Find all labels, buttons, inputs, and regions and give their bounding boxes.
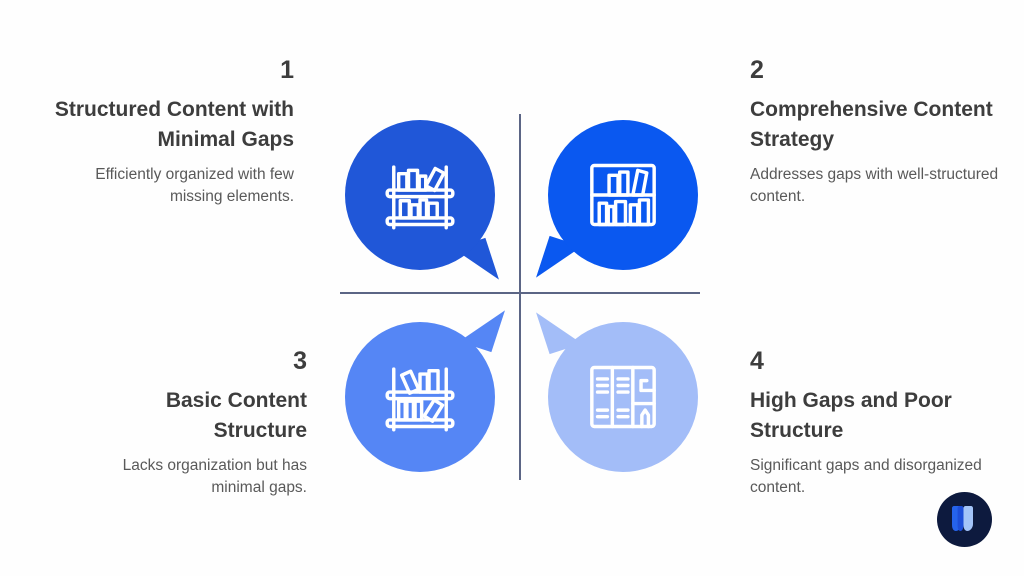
- quadrant-2-title: Comprehensive Content Strategy: [750, 95, 1000, 156]
- bookshelf-icon: [379, 154, 461, 236]
- quadrant-2-bubble[interactable]: [548, 120, 698, 270]
- quadrant-4-number: 4: [750, 348, 1000, 376]
- vertical-divider: [519, 114, 521, 480]
- quadrant-3-bubble[interactable]: [345, 322, 495, 472]
- quadrant-2-text: 2 Comprehensive Content Strategy Address…: [750, 57, 1000, 208]
- quadrant-4-title: High Gaps and Poor Structure: [750, 386, 1000, 447]
- quadrant-2-description: Addresses gaps with well-structured cont…: [750, 164, 1000, 208]
- bookshelf-tilted-books-icon: [379, 356, 461, 438]
- quadrant-3-description: Lacks organization but has minimal gaps.: [78, 455, 307, 499]
- quadrant-3-number: 3: [78, 348, 307, 376]
- quadrant-2-number: 2: [750, 57, 1000, 85]
- quadrant-4-bubble[interactable]: [548, 322, 698, 472]
- bookcase-icon: [582, 154, 664, 236]
- quadrant-1-text: 1 Structured Content with Minimal Gaps E…: [48, 57, 294, 208]
- quadrant-1-title: Structured Content with Minimal Gaps: [48, 95, 294, 156]
- w-monogram-logo[interactable]: [937, 492, 992, 547]
- quadrant-3-text: 3 Basic Content Structure Lacks organiza…: [78, 348, 307, 499]
- quadrant-1-bubble[interactable]: [345, 120, 495, 270]
- quadrant-1-description: Efficiently organized with few missing e…: [48, 164, 294, 208]
- quadrant-1-number: 1: [48, 57, 294, 85]
- logo-mark: [950, 506, 979, 533]
- file-cabinet-icon: [582, 356, 664, 438]
- quadrant-4-text: 4 High Gaps and Poor Structure Significa…: [750, 348, 1000, 499]
- quadrant-3-title: Basic Content Structure: [78, 386, 307, 447]
- infographic-canvas: 1 Structured Content with Minimal Gaps E…: [0, 0, 1024, 576]
